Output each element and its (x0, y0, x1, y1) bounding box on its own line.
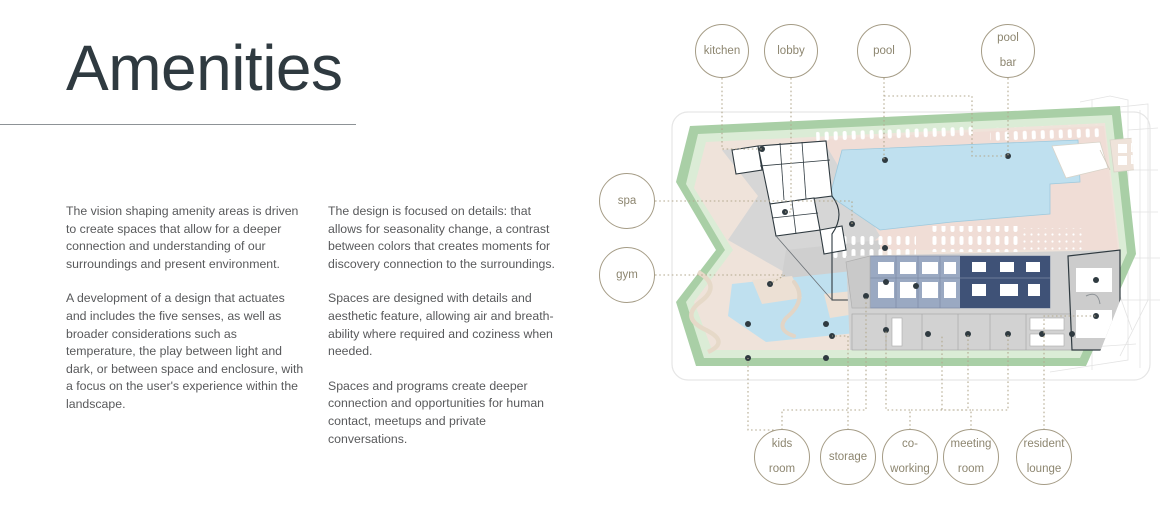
callout-meeting-room[interactable]: meeting room (943, 429, 999, 485)
callout-label: gym (614, 269, 640, 282)
callout-co-working[interactable]: co- working (882, 429, 938, 485)
paragraph: The design is focused on details: that a… (328, 203, 566, 273)
callout-line-2: room (767, 463, 797, 476)
callout-label: meeting room (947, 438, 996, 476)
callout-line-1: co- (888, 438, 932, 451)
callout-label: storage (827, 451, 869, 464)
text-column-left: The vision shaping amenity areas is driv… (66, 203, 304, 414)
callout-spa[interactable]: spa (599, 173, 655, 229)
callout-label: kitchen (702, 45, 742, 58)
callout-line-2: room (949, 463, 994, 476)
paragraph: Spaces are designed with details and aes… (328, 290, 566, 360)
callout-line-1: meeting (949, 438, 994, 451)
callout-kitchen[interactable]: kitchen (695, 24, 749, 78)
callout-resident-lounge[interactable]: resident lounge (1016, 429, 1072, 485)
callout-line-2: lounge (1022, 463, 1067, 476)
callout-line-2: bar (995, 57, 1021, 70)
callout-storage[interactable]: storage (820, 429, 876, 485)
callout-label: resident lounge (1020, 438, 1069, 476)
callout-line-1: kids (767, 438, 797, 451)
callout-label: co- working (886, 438, 934, 476)
callout-line-1: pool (995, 32, 1021, 45)
callout-kids-room[interactable]: kids room (754, 429, 810, 485)
lounger-row-bottom-right (932, 226, 1018, 252)
amenities-slide: Amenities The vision shaping amenity are… (0, 0, 1170, 511)
callout-label: spa (616, 195, 639, 208)
callout-label: lobby (775, 45, 807, 58)
callout-label: pool bar (993, 32, 1023, 70)
callout-gym[interactable]: gym (599, 247, 655, 303)
callout-label: kids room (765, 438, 799, 476)
residential-block (846, 250, 1120, 350)
paragraph: Spaces and programs create deeper connec… (328, 378, 566, 448)
title-divider (0, 124, 356, 125)
paragraph: The vision shaping amenity areas is driv… (66, 203, 304, 273)
callout-label: pool (871, 45, 897, 58)
callout-line-2: working (888, 463, 932, 476)
text-column-right: The design is focused on details: that a… (328, 203, 566, 448)
page-title: Amenities (66, 36, 343, 100)
callout-line-1: resident (1022, 438, 1067, 451)
callout-lobby[interactable]: lobby (764, 24, 818, 78)
paragraph: A development of a design that actuates … (66, 290, 304, 413)
callout-pool[interactable]: pool (857, 24, 911, 78)
callout-pool-bar[interactable]: pool bar (981, 24, 1035, 78)
site-plan-panel: kitchen lobby pool pool bar spa gym kids… (580, 0, 1170, 511)
